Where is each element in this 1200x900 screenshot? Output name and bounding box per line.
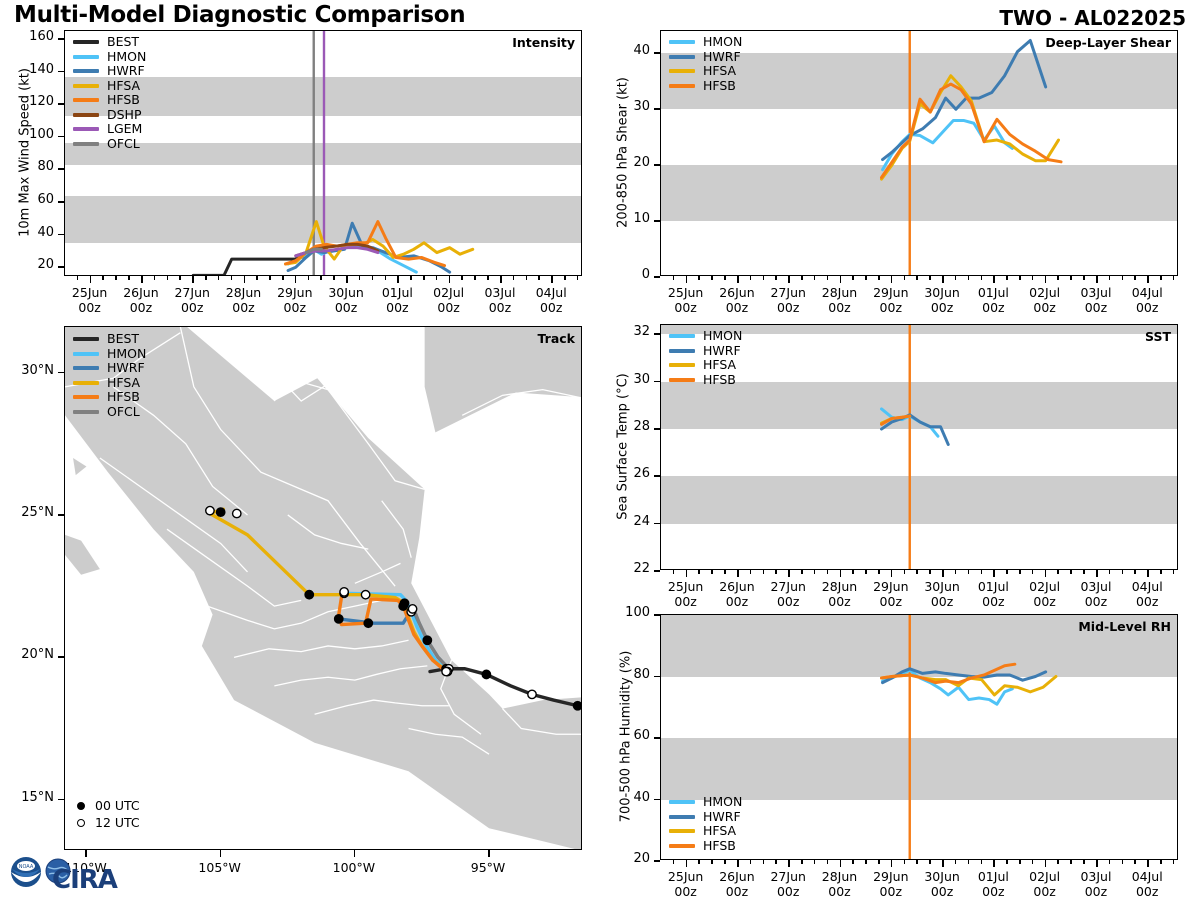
x-minor-tick [474, 276, 476, 280]
legend-label-HWRF: HWRF [703, 810, 741, 825]
track-marker-filled [423, 636, 431, 644]
x-minor-tick [308, 276, 310, 280]
legend-item-HFSB[interactable]: HFSB [73, 93, 146, 108]
legend-swatch-HMON [669, 334, 695, 338]
x-minor-tick [698, 276, 700, 280]
x-tick-mark [500, 276, 502, 283]
x-minor-tick [1160, 276, 1162, 280]
y-tick-label: 32 [604, 324, 650, 339]
x-minor-tick [904, 276, 906, 280]
x-minor-tick [814, 276, 816, 280]
x-minor-tick [1006, 570, 1008, 574]
x-minor-tick [775, 570, 777, 574]
legend-swatch-BEST [73, 337, 99, 341]
x-minor-tick [955, 860, 957, 864]
legend-swatch-HFSA [669, 363, 695, 367]
legend-item-HFSB[interactable]: HFSB [669, 373, 742, 388]
legend-item-HFSA[interactable]: HFSA [73, 79, 146, 94]
x-minor-tick [102, 276, 104, 280]
x-minor-tick [1070, 860, 1072, 864]
legend-item-HWRF[interactable]: HWRF [669, 810, 742, 825]
x-minor-tick [1173, 276, 1175, 280]
track-marker-open [408, 605, 416, 613]
legend-swatch-HFSB [73, 395, 99, 399]
rh-legend: HMONHWRFHFSAHFSB [669, 795, 742, 853]
x-minor-tick [814, 860, 816, 864]
x-tick-mark [788, 570, 790, 577]
x-minor-tick [698, 860, 700, 864]
x-tick-mark [1147, 570, 1149, 577]
x-tick-label: 04Jul00z [1111, 579, 1183, 609]
lon-tick-label: 95°W [448, 860, 528, 875]
marker-legend-label: 12 UTC [95, 815, 140, 830]
x-tick-label: 04Jul00z [515, 285, 587, 315]
track-marker-filled [216, 508, 224, 516]
legend-item-OFCL[interactable]: OFCL [73, 405, 146, 420]
x-tick-mark [1096, 276, 1098, 283]
legend-swatch-HFSB [73, 98, 99, 102]
y-tick-label: 20 [604, 155, 650, 170]
y-tick-mark [654, 523, 660, 525]
track-marker-open [206, 506, 214, 514]
y-tick-label: 120 [8, 94, 54, 109]
x-tick-date: 30Jun [924, 579, 959, 594]
legend-item-HFSB[interactable]: HFSB [669, 839, 742, 854]
x-minor-tick [461, 276, 463, 280]
x-minor-tick [1070, 276, 1072, 280]
x-tick-mark [993, 860, 995, 867]
y-tick-label: 40 [8, 225, 54, 240]
legend-item-HMON[interactable]: HMON [73, 50, 146, 65]
x-minor-tick [1122, 276, 1124, 280]
rh-panel: Mid-Level RH HMONHWRFHFSAHFSB [660, 614, 1178, 860]
lon-tick-mark [220, 850, 222, 857]
x-minor-tick [763, 276, 765, 280]
legend-swatch-HWRF [669, 349, 695, 353]
x-tick-date: 01Jul [978, 869, 1009, 884]
x-minor-tick [827, 860, 829, 864]
x-minor-tick [77, 276, 79, 280]
x-minor-tick [916, 570, 918, 574]
track-marker-open [442, 667, 450, 675]
x-minor-tick [423, 276, 425, 280]
x-minor-tick [750, 570, 752, 574]
y-tick-label: 80 [8, 159, 54, 174]
x-minor-tick [686, 276, 688, 280]
x-minor-tick [167, 276, 169, 280]
legend-swatch-HFSB [669, 844, 695, 848]
x-minor-tick [513, 276, 515, 280]
x-tick-hour: 00z [1111, 884, 1183, 899]
legend-item-HWRF[interactable]: HWRF [669, 344, 742, 359]
y-tick-label: 80 [604, 667, 650, 682]
lat-tick-label: 30°N [2, 363, 54, 378]
intensity-panel: Intensity BESTHMONHWRFHFSAHFSBDSHPLGEMOF… [64, 30, 582, 276]
legend-label-HFSA: HFSA [703, 824, 736, 839]
lon-tick-label: 105°W [180, 860, 260, 875]
x-tick-date: 25Jun [668, 869, 703, 884]
x-minor-tick [686, 570, 688, 574]
x-tick-mark [993, 276, 995, 283]
x-tick-date: 01Jul [978, 579, 1009, 594]
track-marker-open [233, 509, 241, 517]
y-tick-mark [654, 333, 660, 335]
x-minor-tick [1173, 860, 1175, 864]
track-marker-filled [335, 615, 343, 623]
x-minor-tick [385, 276, 387, 280]
x-tick-mark [942, 276, 944, 283]
x-minor-tick [801, 860, 803, 864]
x-minor-tick [775, 860, 777, 864]
track-marker-open [361, 590, 369, 598]
x-tick-date: 04Jul [1132, 579, 1163, 594]
x-tick-date: 27Jun [770, 285, 805, 300]
legend-item-HMON[interactable]: HMON [73, 347, 146, 362]
x-minor-tick [231, 276, 233, 280]
x-tick-date: 03Jul [1080, 579, 1111, 594]
y-tick-label: 100 [604, 605, 650, 620]
legend-item-HMON[interactable]: HMON [669, 329, 742, 344]
legend-label-HFSB: HFSB [107, 93, 140, 108]
x-minor-tick [436, 276, 438, 280]
lat-tick-mark [58, 799, 64, 801]
x-minor-tick [372, 276, 374, 280]
y-tick-label: 24 [604, 514, 650, 529]
x-minor-tick [1019, 570, 1021, 574]
x-tick-date: 02Jul [1029, 579, 1060, 594]
x-minor-tick [981, 570, 983, 574]
x-minor-tick [1109, 276, 1111, 280]
legend-swatch-HFSB [669, 378, 695, 382]
legend-item-HWRF[interactable]: HWRF [73, 361, 146, 376]
x-minor-tick [724, 860, 726, 864]
lat-tick-label: 25°N [2, 505, 54, 520]
legend-item-HFSA[interactable]: HFSA [669, 358, 742, 373]
x-minor-tick [865, 276, 867, 280]
x-minor-tick [1109, 570, 1111, 574]
track-marker-filled [573, 702, 581, 710]
y-tick-label: 22 [604, 561, 650, 576]
legend-item-BEST[interactable]: BEST [73, 332, 146, 347]
x-minor-tick [801, 570, 803, 574]
track-marker-open [528, 690, 536, 698]
legend-item-DSHP[interactable]: DSHP [73, 108, 146, 123]
x-tick-mark [1096, 860, 1098, 867]
x-minor-tick [320, 276, 322, 280]
legend-swatch-HWRF [669, 55, 695, 59]
legend-swatch-HWRF [73, 69, 99, 73]
y-tick-label: 60 [604, 728, 650, 743]
legend-swatch-HWRF [73, 366, 99, 370]
legend-item-HMON[interactable]: HMON [669, 35, 742, 50]
x-tick-mark [1147, 860, 1149, 867]
x-minor-tick [852, 276, 854, 280]
legend-label-HFSA: HFSA [107, 376, 140, 391]
x-tick-date: 01Jul [382, 285, 413, 300]
x-minor-tick [916, 860, 918, 864]
x-minor-tick [1160, 860, 1162, 864]
track-panel: Track BESTHMONHWRFHFSAHFSBOFCL 00 UTC12 … [64, 326, 582, 850]
diagnostic-dashboard: Multi-Model Diagnostic Comparison TWO - … [0, 0, 1200, 900]
x-minor-tick [1083, 570, 1085, 574]
x-tick-mark [295, 276, 297, 283]
x-minor-tick [968, 570, 970, 574]
y-tick-label: 20 [8, 257, 54, 272]
landmass-islet [73, 458, 86, 475]
x-minor-tick [929, 570, 931, 574]
legend-swatch-HFSA [73, 84, 99, 88]
x-minor-tick [968, 860, 970, 864]
x-minor-tick [878, 276, 880, 280]
x-minor-tick [955, 570, 957, 574]
x-tick-date: 25Jun [668, 285, 703, 300]
x-tick-mark [449, 276, 451, 283]
legend-swatch-DSHP [73, 113, 99, 117]
legend-item-HFSB[interactable]: HFSB [73, 390, 146, 405]
y-tick-label: 140 [8, 62, 54, 77]
x-minor-tick [878, 570, 880, 574]
x-tick-date: 25Jun [72, 285, 107, 300]
marker-legend-item: 00 UTC [73, 797, 140, 814]
lon-tick-mark [354, 850, 356, 857]
x-minor-tick [711, 276, 713, 280]
legend-item-LGEM[interactable]: LGEM [73, 122, 146, 137]
x-minor-tick [1122, 860, 1124, 864]
legend-label-BEST: BEST [107, 332, 139, 347]
x-tick-mark [141, 276, 143, 283]
x-minor-tick [1173, 570, 1175, 574]
x-tick-date: 26Jun [719, 579, 754, 594]
x-minor-tick [205, 276, 207, 280]
x-minor-tick [564, 276, 566, 280]
shear-legend: HMONHWRFHFSAHFSB [669, 35, 742, 93]
y-tick-mark [654, 737, 660, 739]
legend-label-HMON: HMON [107, 50, 146, 65]
svg-text:NOAA: NOAA [19, 864, 34, 870]
x-minor-tick [410, 276, 412, 280]
x-minor-tick [711, 860, 713, 864]
track-marker-open [340, 588, 348, 596]
rh-plot-area: Mid-Level RH HMONHWRFHFSAHFSB [660, 614, 1178, 860]
x-minor-tick [698, 570, 700, 574]
x-minor-tick [865, 570, 867, 574]
x-minor-tick [128, 276, 130, 280]
legend-swatch-HMON [669, 800, 695, 804]
x-minor-tick [763, 860, 765, 864]
x-minor-tick [538, 276, 540, 280]
lat-tick-mark [58, 514, 64, 516]
track-marker-legend: 00 UTC12 UTC [73, 797, 140, 831]
x-minor-tick [904, 570, 906, 574]
x-minor-tick [282, 276, 284, 280]
x-tick-date: 28Jun [822, 579, 857, 594]
x-tick-label: 04Jul00z [1111, 285, 1183, 315]
x-minor-tick [750, 860, 752, 864]
y-tick-mark [654, 428, 660, 430]
legend-item-OFCL[interactable]: OFCL [73, 137, 146, 152]
legend-item-BEST[interactable]: BEST [73, 35, 146, 50]
marker-legend-item: 12 UTC [73, 814, 140, 831]
x-minor-tick [981, 860, 983, 864]
legend-item-HWRF[interactable]: HWRF [669, 50, 742, 65]
y-tick-mark [58, 168, 64, 170]
x-tick-date: 30Jun [924, 869, 959, 884]
legend-item-HMON[interactable]: HMON [669, 795, 742, 810]
legend-label-HFSA: HFSA [703, 358, 736, 373]
x-tick-date: 29Jun [873, 579, 908, 594]
lat-tick-label: 15°N [2, 790, 54, 805]
legend-swatch-BEST [73, 40, 99, 44]
legend-label-BEST: BEST [107, 35, 139, 50]
x-tick-mark [840, 570, 842, 577]
x-minor-tick [852, 860, 854, 864]
y-tick-label: 30 [604, 99, 650, 114]
y-tick-label: 40 [604, 790, 650, 805]
lon-tick-mark [488, 850, 490, 857]
legend-label-HFSB: HFSB [703, 373, 736, 388]
x-tick-mark [788, 860, 790, 867]
x-tick-mark [346, 276, 348, 283]
x-minor-tick [333, 276, 335, 280]
x-minor-tick [1083, 860, 1085, 864]
legend-label-HMON: HMON [107, 347, 146, 362]
shear-plot-area: Deep-Layer Shear HMONHWRFHFSAHFSB [660, 30, 1178, 276]
x-tick-hour: 00z [1111, 594, 1183, 609]
legend-item-HFSB[interactable]: HFSB [669, 79, 742, 94]
x-minor-tick [1083, 276, 1085, 280]
x-tick-mark [942, 860, 944, 867]
x-tick-date: 03Jul [1080, 285, 1111, 300]
x-minor-tick [827, 570, 829, 574]
legend-label-HFSB: HFSB [703, 79, 736, 94]
shear-panel: Deep-Layer Shear HMONHWRFHFSAHFSB [660, 30, 1178, 276]
landmass-baja [65, 535, 100, 575]
x-tick-hour: 00z [1111, 300, 1183, 315]
noaa-logo-icon: NOAA [11, 857, 41, 887]
shear-y-axis-label: 200-850 hPa Shear (kt) [616, 23, 631, 283]
legend-label-DSHP: DSHP [107, 108, 142, 123]
legend-swatch-HFSB [669, 84, 695, 88]
sst-plot-area: SST HMONHWRFHFSAHFSB [660, 324, 1178, 570]
x-tick-date: 04Jul [1132, 285, 1163, 300]
y-tick-label: 100 [8, 127, 54, 142]
legend-label-HFSA: HFSA [703, 64, 736, 79]
intensity-plot-area: Intensity BESTHMONHWRFHFSAHFSBDSHPLGEMOF… [64, 30, 582, 276]
legend-item-HFSA[interactable]: HFSA [669, 824, 742, 839]
x-tick-date: 25Jun [668, 579, 703, 594]
x-minor-tick [1032, 570, 1034, 574]
y-tick-mark [654, 381, 660, 383]
x-minor-tick [929, 276, 931, 280]
lat-tick-label: 20°N [2, 647, 54, 662]
x-tick-mark [397, 276, 399, 283]
legend-item-HWRF[interactable]: HWRF [73, 64, 146, 79]
x-minor-tick [1160, 570, 1162, 574]
x-minor-tick [1057, 860, 1059, 864]
legend-label-LGEM: LGEM [107, 122, 142, 137]
x-tick-hour: 00z [515, 300, 587, 315]
legend-item-HFSA[interactable]: HFSA [73, 376, 146, 391]
legend-item-HFSA[interactable]: HFSA [669, 64, 742, 79]
track-legend: BESTHMONHWRFHFSAHFSBOFCL [73, 332, 146, 419]
x-tick-date: 02Jul [433, 285, 464, 300]
svg-text:CIRA: CIRA [52, 865, 118, 895]
x-tick-mark [840, 860, 842, 867]
y-tick-mark [58, 201, 64, 203]
legend-swatch-HMON [73, 55, 99, 59]
y-tick-mark [58, 234, 64, 236]
y-tick-label: 160 [8, 29, 54, 44]
x-minor-tick [955, 276, 957, 280]
lon-tick-label: 100°W [314, 860, 394, 875]
y-tick-label: 40 [604, 43, 650, 58]
rh-panel-label: Mid-Level RH [1078, 619, 1171, 634]
x-minor-tick [801, 276, 803, 280]
x-tick-date: 02Jul [1029, 285, 1060, 300]
x-tick-date: 29Jun [873, 869, 908, 884]
x-tick-date: 02Jul [1029, 869, 1060, 884]
y-tick-label: 20 [604, 851, 650, 866]
x-tick-date: 27Jun [770, 579, 805, 594]
x-tick-date: 03Jul [1080, 869, 1111, 884]
legend-swatch-HMON [73, 352, 99, 356]
y-tick-mark [654, 676, 660, 678]
x-minor-tick [1134, 276, 1136, 280]
x-tick-date: 30Jun [328, 285, 363, 300]
y-tick-mark [58, 136, 64, 138]
x-tick-mark [942, 570, 944, 577]
x-tick-date: 04Jul [536, 285, 567, 300]
track-marker-filled [399, 602, 407, 610]
x-minor-tick [763, 570, 765, 574]
x-minor-tick [487, 276, 489, 280]
x-tick-mark [1096, 570, 1098, 577]
legend-swatch-HFSA [73, 381, 99, 385]
x-tick-date: 26Jun [719, 869, 754, 884]
y-tick-mark [58, 71, 64, 73]
series-line-HFSA [882, 76, 1059, 179]
y-tick-mark [58, 103, 64, 105]
x-tick-mark [192, 276, 194, 283]
y-tick-mark [654, 164, 660, 166]
shear-panel-label: Deep-Layer Shear [1045, 35, 1171, 50]
x-minor-tick [1032, 276, 1034, 280]
y-tick-mark [654, 220, 660, 222]
x-minor-tick [115, 276, 117, 280]
x-minor-tick [686, 860, 688, 864]
legend-swatch-OFCL [73, 410, 99, 414]
x-tick-mark [840, 276, 842, 283]
x-minor-tick [1109, 860, 1111, 864]
legend-swatch-HWRF [669, 815, 695, 819]
landmass-baja-north [64, 373, 65, 515]
x-tick-mark [1147, 276, 1149, 283]
x-minor-tick [269, 276, 271, 280]
y-tick-mark [58, 38, 64, 40]
x-tick-date: 28Jun [226, 285, 261, 300]
x-tick-mark [737, 860, 739, 867]
legend-label-HWRF: HWRF [107, 64, 145, 79]
x-minor-tick [775, 276, 777, 280]
track-map-area: Track BESTHMONHWRFHFSAHFSBOFCL 00 UTC12 … [64, 326, 582, 850]
legend-label-OFCL: OFCL [107, 137, 140, 152]
x-minor-tick [154, 276, 156, 280]
x-tick-date: 26Jun [719, 285, 754, 300]
x-minor-tick [1057, 276, 1059, 280]
legend-swatch-LGEM [73, 127, 99, 131]
x-tick-date: 30Jun [924, 285, 959, 300]
marker-legend-label: 00 UTC [95, 798, 140, 813]
